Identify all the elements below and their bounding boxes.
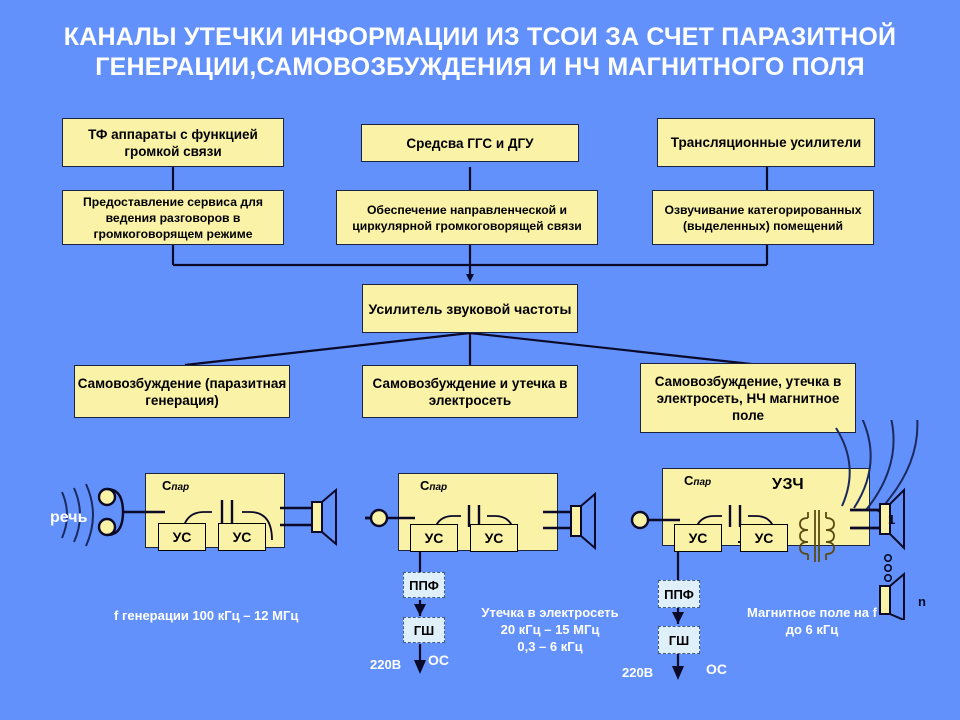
left-speech-label: речь xyxy=(50,509,87,527)
left-cpar-label: Cпар xyxy=(162,478,189,493)
right-amp-2[interactable]: УС xyxy=(740,524,788,552)
right-cpar-sub: пар xyxy=(693,477,711,488)
node-row2-2[interactable]: Озвучивание категорированных (выделенных… xyxy=(652,190,874,245)
node-row1-2[interactable]: Трансляционные усилители xyxy=(657,118,875,167)
middle-amp-2[interactable]: УС xyxy=(470,524,518,552)
node-row1-1[interactable]: Средсва ГГС и ДГУ xyxy=(361,124,579,162)
right-os-label: ОС xyxy=(706,661,727,677)
node-row3-0[interactable]: Самовозбуждение (паразитная генерация) xyxy=(74,365,290,418)
middle-amp-1[interactable]: УС xyxy=(410,524,458,552)
node-audio-amplifier[interactable]: Усилитель звуковой частоты xyxy=(362,284,578,333)
middle-circuit-wiring xyxy=(355,470,645,570)
right-caption-line2: до 6 кГц xyxy=(712,621,912,638)
left-amp-2[interactable]: УС xyxy=(218,523,266,551)
middle-filter-ppf[interactable]: ППФ xyxy=(403,572,445,598)
right-mains-label: 220В xyxy=(622,664,653,681)
middle-filter-gsh[interactable]: ГШ xyxy=(403,617,445,643)
right-speaker-last-label: n xyxy=(918,593,926,610)
right-amp-1[interactable]: УС xyxy=(674,524,722,552)
diagram-canvas: КАНАЛЫ УТЕЧКИ ИНФОРМАЦИИ ИЗ ТСОИ ЗА СЧЕТ… xyxy=(0,0,960,720)
right-uzch-label: УЗЧ xyxy=(772,476,804,494)
middle-caption-line2: 20 кГц – 15 МГц xyxy=(460,621,640,638)
right-speaker-first-label: 1 xyxy=(888,511,895,528)
left-caption: f генерации 100 кГц – 12 МГц xyxy=(114,607,298,624)
middle-os-label: ОС xyxy=(428,652,449,668)
middle-caption-line3: 0,3 – 6 кГц xyxy=(460,638,640,655)
node-row1-0[interactable]: ТФ аппараты с функцией громкой связи xyxy=(62,118,284,167)
right-cpar-c: C xyxy=(684,473,693,488)
right-filter-ppf[interactable]: ППФ xyxy=(658,580,700,608)
left-cpar-sub: пар xyxy=(171,482,189,493)
node-row2-1[interactable]: Обеспечение направленческой и циркулярно… xyxy=(336,190,598,245)
node-row3-1[interactable]: Самовозбуждение и утечка в электросеть xyxy=(362,365,578,418)
middle-caption-line1: Утечка в электросеть xyxy=(460,604,640,621)
left-cpar-c: C xyxy=(162,478,171,493)
right-filter-gsh[interactable]: ГШ xyxy=(658,626,700,654)
right-cpar-label: Cпар xyxy=(684,473,711,488)
middle-cpar-c: C xyxy=(420,478,429,493)
left-amp-1[interactable]: УС xyxy=(158,523,206,551)
middle-mains-label: 220В xyxy=(370,656,401,673)
right-caption-line1: Магнитное поле на f xyxy=(712,604,912,621)
middle-cpar-label: Cпар xyxy=(420,478,447,493)
node-row2-0[interactable]: Предоставление сервиса для ведения разго… xyxy=(62,190,284,245)
middle-cpar-sub: пар xyxy=(429,482,447,493)
